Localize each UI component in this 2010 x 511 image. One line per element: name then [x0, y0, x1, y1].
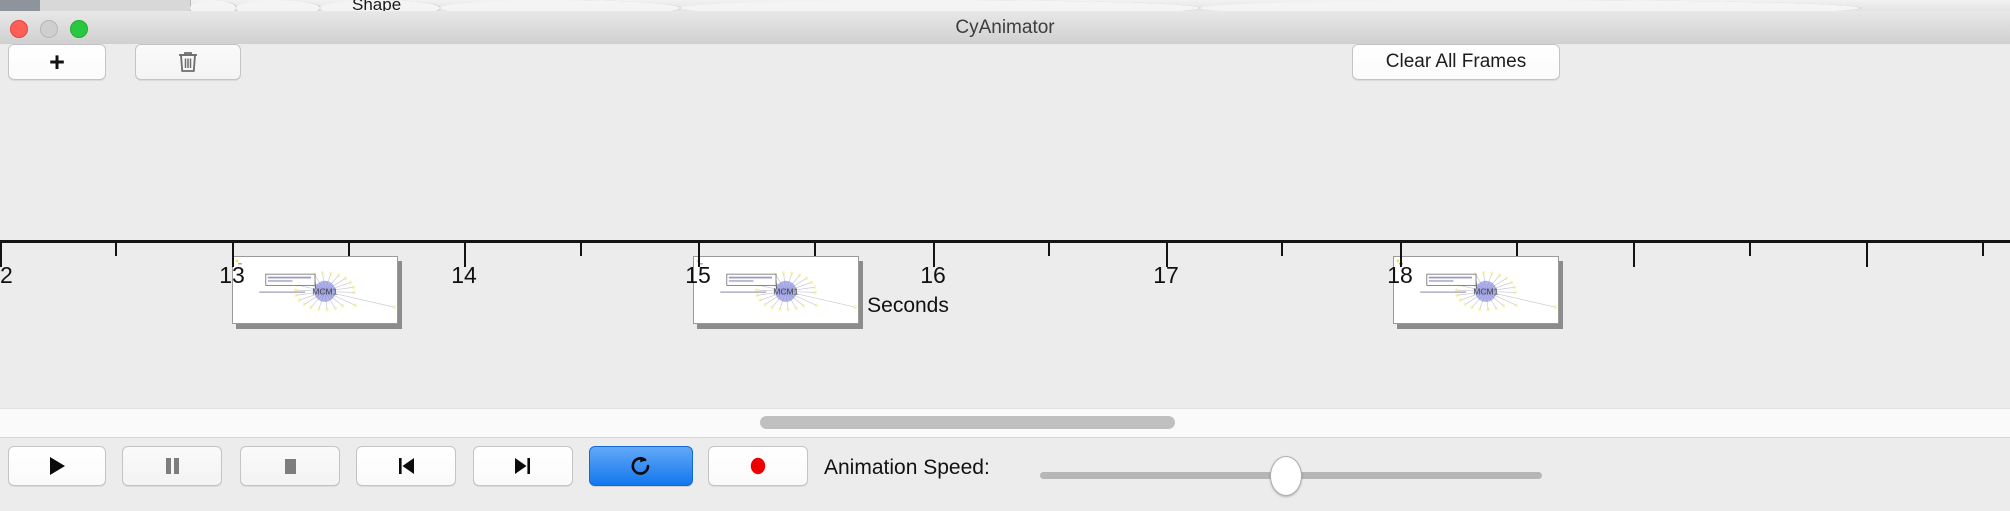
scrollbar-thumb[interactable] — [760, 416, 1175, 429]
timeline-axis-title: Seconds — [867, 294, 949, 318]
timeline-tick — [1982, 243, 1984, 256]
pause-button[interactable] — [122, 446, 222, 486]
add-frame-button[interactable]: + — [8, 44, 106, 80]
plus-icon: + — [49, 49, 65, 76]
previous-button[interactable] — [356, 446, 456, 486]
timeline-tick — [1516, 243, 1518, 256]
loop-button[interactable] — [589, 446, 693, 486]
timeline-tick-label: 16 — [920, 262, 946, 289]
background-window-strip: Shape — [0, 0, 2010, 11]
clear-all-frames-button[interactable]: Clear All Frames — [1352, 44, 1560, 80]
timeline-tick — [1866, 243, 1868, 267]
timeline-tick — [1048, 243, 1050, 256]
timeline-tick-label: 12 — [0, 262, 13, 289]
background-window-label: Shape — [352, 0, 401, 11]
trash-icon — [177, 50, 199, 74]
timeline-tick-label: 14 — [451, 262, 477, 289]
loop-icon — [629, 454, 653, 478]
timeline-tick-label: 18 — [1387, 262, 1413, 289]
skip-end-icon — [512, 454, 534, 478]
cyanimator-window: Shape CyAnimator + Clear All Fra — [0, 0, 2010, 510]
skip-start-icon — [395, 454, 417, 478]
stop-icon — [279, 454, 301, 478]
delete-frame-button[interactable] — [135, 44, 241, 80]
play-icon — [46, 454, 68, 478]
svg-text:MCM1: MCM1 — [1473, 286, 1498, 296]
animation-speed-thumb[interactable] — [1270, 456, 1302, 496]
stop-button[interactable] — [240, 446, 340, 486]
timeline-tick — [580, 243, 582, 256]
frame-thumbnail-2[interactable]: MCM1 — [693, 256, 859, 324]
play-button[interactable] — [8, 446, 106, 486]
svg-text:MCM1: MCM1 — [773, 286, 798, 296]
animation-speed-label: Animation Speed: — [824, 456, 990, 480]
timeline-tick — [1633, 243, 1635, 267]
window-title: CyAnimator — [0, 11, 2010, 44]
timeline-tick — [814, 243, 816, 256]
record-button[interactable] — [708, 446, 808, 486]
frame-thumbnail-1[interactable]: MCM1 — [232, 256, 398, 324]
frame-network-image: MCM1 — [1393, 256, 1559, 324]
title-bar: CyAnimator — [0, 11, 2010, 45]
svg-text:MCM1: MCM1 — [312, 286, 337, 296]
timeline-scrollbar[interactable] — [0, 408, 2010, 438]
toolbar: + Clear All Frames — [0, 44, 2010, 89]
frame-thumbnail-3[interactable]: MCM1 — [1393, 256, 1559, 324]
timeline-tick-label: 15 — [685, 262, 711, 289]
frame-network-image: MCM1 — [232, 256, 398, 324]
next-button[interactable] — [473, 446, 573, 486]
timeline-tick — [115, 243, 117, 256]
timeline-tick-label: 13 — [219, 262, 245, 289]
timeline-tick — [348, 243, 350, 256]
timeline-tick-label: 17 — [1153, 262, 1179, 289]
timeline-panel[interactable]: MCM1 MCM1 MCM1 12131415161718 Seconds — [0, 88, 2010, 409]
timeline-tick — [1281, 243, 1283, 256]
timeline-tick — [1749, 243, 1751, 256]
frame-network-image: MCM1 — [693, 256, 859, 324]
record-icon — [746, 454, 770, 478]
playback-control-bar: Animation Speed: — [0, 437, 2010, 511]
timeline-axis-line — [0, 240, 2010, 243]
clear-all-frames-label: Clear All Frames — [1386, 51, 1526, 73]
pause-icon — [161, 454, 183, 478]
